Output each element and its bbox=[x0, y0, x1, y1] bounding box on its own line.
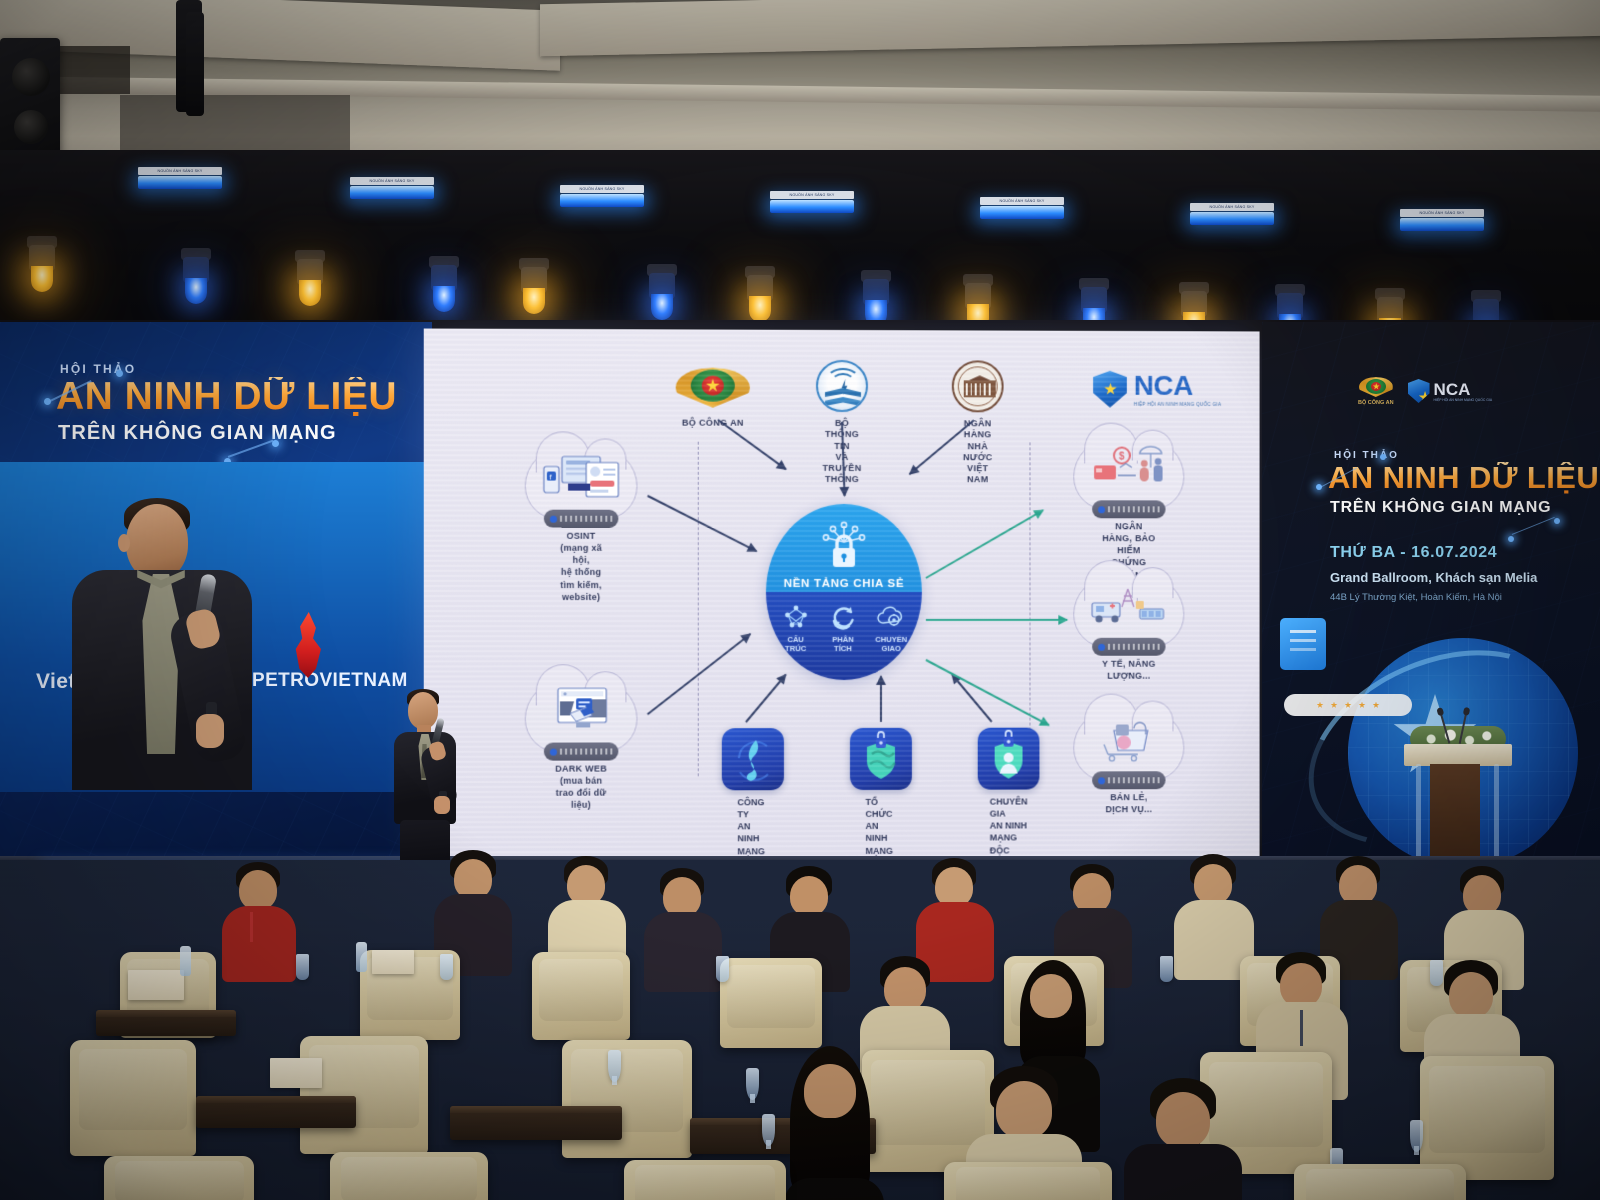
projection-screen: NCA HIỆP HỘI AN NINH MẠNG QUỐC GIA BỘ CÔ… bbox=[424, 329, 1260, 860]
stage-spotlight-warm bbox=[740, 266, 780, 326]
capability-label: PHÂN TÍCH bbox=[832, 635, 854, 653]
retail-illustration bbox=[1088, 714, 1171, 762]
truss-black-curtain bbox=[0, 150, 1600, 340]
arrow-bca-to-hub bbox=[718, 420, 786, 470]
arrow-expert-to-hub bbox=[952, 674, 992, 721]
led-bar-light: NGUỒN ÁNH SÁNG SKY bbox=[1400, 218, 1484, 231]
authority-bo-cong-an: BỘ CÔNG AN bbox=[676, 361, 750, 409]
fixture-tag: NGUỒN ÁNH SÁNG SKY bbox=[980, 197, 1064, 205]
divider-dashed-left bbox=[698, 442, 699, 777]
water-bottle bbox=[356, 942, 367, 972]
banner-logo-bca: BỘ CÔNG AN bbox=[1358, 376, 1394, 406]
health-energy-illustration bbox=[1088, 581, 1171, 629]
osint-illustration: f bbox=[540, 452, 625, 500]
fixture-tag: NGUỒN ÁNH SÁNG SKY bbox=[1190, 203, 1274, 211]
nca-wordmark: NCA bbox=[1134, 372, 1221, 400]
banking-insurance-cloud-icon: $ bbox=[1073, 438, 1184, 510]
dark-web-cloud-icon bbox=[525, 680, 638, 752]
water-glass bbox=[716, 956, 729, 982]
chair bbox=[104, 1156, 254, 1200]
decor-node-dot bbox=[116, 370, 123, 377]
stage-spotlight-warm bbox=[290, 250, 330, 310]
server-bar-icon bbox=[544, 742, 619, 760]
left-led-banner: HỘI THẢO AN NINH DỮ LIỆU TRÊN KHÔNG GIAN… bbox=[0, 322, 432, 862]
authority-label: BỘ CÔNG AN bbox=[682, 418, 744, 429]
arrow-darkweb-to-hub bbox=[648, 634, 751, 714]
name-card bbox=[372, 950, 414, 974]
chair bbox=[720, 958, 822, 1048]
authority-ngan-hang-nha-nuoc: NGÂN HÀNG NHÀ NƯỚC VIỆT NAM bbox=[952, 360, 1004, 412]
speaker-video-feed: VietinBank PETROVIETNAM bbox=[0, 462, 432, 862]
arrow-company-to-hub bbox=[746, 675, 786, 723]
led-bar-light: NGUỒN ÁNH SÁNG SKY bbox=[350, 186, 434, 199]
source-label: DARK WEB (mua bán trao đổi dữ liệu) bbox=[553, 763, 609, 812]
event-venue: Grand Ballroom, Khách sạn Melia bbox=[1330, 570, 1537, 585]
retail-services-cloud-icon bbox=[1073, 709, 1184, 781]
speaker-head bbox=[126, 504, 188, 580]
banner-logo-nca: NCA HIỆP HỘI AN NINH MẠNG QUỐC GIA bbox=[1408, 379, 1493, 403]
consumer-label: BÁN LẺ, DỊCH VỤ... bbox=[1101, 791, 1157, 815]
wine-glass bbox=[762, 1114, 775, 1146]
lock-network-icon bbox=[813, 520, 875, 579]
chair bbox=[624, 1160, 786, 1200]
water-glass bbox=[1160, 956, 1173, 982]
contributor-intl-org: TỔ CHỨC AN NINH MẠNG QUỐC TẾ bbox=[850, 728, 912, 790]
document-icon bbox=[1280, 618, 1326, 670]
vietnam-map-shield-icon bbox=[722, 728, 784, 790]
arrow-osint-to-hub bbox=[648, 496, 757, 552]
divider-dashed-right bbox=[1029, 442, 1030, 775]
stage-spotlight-blue bbox=[424, 256, 464, 316]
bo-thong-tin-truyen-thong-logo-icon bbox=[816, 360, 868, 412]
server-bar-icon bbox=[1092, 771, 1165, 789]
structure-nodes-icon bbox=[781, 602, 811, 632]
star-rating-badge bbox=[1284, 694, 1412, 716]
transfer-cloud-icon bbox=[875, 602, 907, 632]
authority-label: NGÂN HÀNG NHÀ NƯỚC VIỆT NAM bbox=[963, 418, 992, 485]
capability-label: CẤU TRÚC bbox=[785, 635, 806, 654]
stage-spotlight-warm bbox=[514, 258, 554, 318]
central-sharing-platform: NỀN TẢNG CHIA SẺ bbox=[766, 504, 922, 680]
led-bar-light: NGUỒN ÁNH SÁNG SKY bbox=[1190, 212, 1274, 225]
server-bar-icon bbox=[544, 510, 619, 528]
banner-logo-caption: BỘ CÔNG AN bbox=[1358, 400, 1394, 406]
water-glass bbox=[296, 954, 309, 980]
rigging-hoist bbox=[186, 12, 204, 116]
nca-shield-icon bbox=[1408, 379, 1430, 403]
capability-analysis: PHÂN TÍCH bbox=[828, 602, 858, 654]
stage-spotlight-blue bbox=[176, 248, 216, 308]
chair bbox=[944, 1162, 1112, 1200]
expert-shield-lock-icon bbox=[978, 728, 1040, 790]
capability-transfer: CHUYỂN GIAO bbox=[875, 602, 907, 654]
server-bar-icon bbox=[1092, 638, 1165, 656]
speaker-ear bbox=[118, 534, 130, 552]
decor-node-dot bbox=[1380, 454, 1386, 460]
banner-logo-row: BỘ CÔNG AN NCA HIỆP HỘI AN NINH MẠNG QUỐ… bbox=[1358, 376, 1492, 406]
podium-leg bbox=[1494, 764, 1499, 868]
contributor-label: TỔ CHỨC AN NINH MẠNG QUỐC TẾ bbox=[865, 796, 896, 860]
chair bbox=[1420, 1056, 1554, 1180]
conference-hall-photo: NGUỒN ÁNH SÁNG SKY NGUỒN ÁNH SÁNG SKY NG… bbox=[0, 0, 1600, 1200]
event-address: 44B Lý Thường Kiệt, Hoàn Kiếm, Hà Nội bbox=[1330, 592, 1502, 603]
table bbox=[196, 1096, 356, 1128]
source-label: OSINT (mạng xã hội, hệ thống tìm kiếm, w… bbox=[553, 530, 609, 603]
stage-spotlight-blue bbox=[642, 264, 682, 324]
nca-logo: NCA HIỆP HỘI AN NINH MẠNG QUỐC GIA bbox=[1093, 371, 1221, 408]
wine-glass bbox=[1410, 1120, 1423, 1152]
ngan-hang-nha-nuoc-logo-icon bbox=[952, 360, 1004, 412]
stage-spotlight-warm bbox=[22, 236, 62, 296]
arrow-hub-to-banking bbox=[926, 510, 1043, 578]
event-title: AN NINH DỮ LIỆU bbox=[56, 377, 397, 417]
nca-wordmark: NCA bbox=[1434, 381, 1493, 398]
chair bbox=[562, 1040, 692, 1158]
svg-text:$: $ bbox=[1119, 452, 1125, 463]
chair bbox=[330, 1152, 488, 1200]
feed-logo-petrovietnam: PETROVIETNAM bbox=[252, 670, 408, 692]
capability-label: CHUYỂN GIAO bbox=[875, 635, 907, 653]
event-subtitle: TRÊN KHÔNG GIAN MẠNG bbox=[1330, 499, 1551, 517]
table bbox=[96, 1010, 236, 1036]
dark-web-illustration bbox=[540, 685, 625, 733]
wine-glass bbox=[746, 1068, 759, 1100]
presenter-hand bbox=[434, 796, 450, 814]
speaking-podium bbox=[1404, 718, 1512, 866]
event-date: THỨ BA - 16.07.2024 bbox=[1330, 544, 1497, 562]
nca-shield-icon bbox=[1093, 371, 1127, 408]
led-bar-light: NGUỒN ÁNH SÁNG SKY bbox=[138, 176, 222, 189]
authority-bo-thong-tin: BỘ THÔNG TIN VÀ TRUYỀN THÔNG bbox=[816, 360, 868, 412]
contributor-independent-expert: CHUYÊN GIA AN NINH MẠNG ĐỘC LẬP bbox=[978, 728, 1040, 790]
name-card bbox=[128, 970, 184, 1000]
globe-shield-lock-icon bbox=[850, 728, 912, 790]
event-eyebrow: HỘI THẢO bbox=[60, 362, 136, 376]
consumer-retail: BÁN LẺ, DỊCH VỤ... bbox=[1073, 709, 1184, 781]
presenter-head bbox=[408, 692, 438, 729]
health-energy-cloud-icon bbox=[1073, 576, 1184, 648]
bo-cong-an-emblem-icon bbox=[676, 361, 750, 409]
water-glass bbox=[1430, 960, 1443, 986]
hub-title: NỀN TẢNG CHIA SẺ bbox=[766, 578, 922, 590]
podium-top bbox=[1404, 744, 1512, 766]
led-bar-light: NGUỒN ÁNH SÁNG SKY bbox=[770, 200, 854, 213]
event-title: AN NINH DỮ LIỆU bbox=[1328, 462, 1599, 494]
fixture-tag: NGUỒN ÁNH SÁNG SKY bbox=[770, 191, 854, 199]
led-bar-light: NGUỒN ÁNH SÁNG SKY bbox=[980, 206, 1064, 219]
chair bbox=[1294, 1164, 1466, 1200]
speaker-hand bbox=[196, 714, 224, 748]
chair bbox=[70, 1040, 196, 1156]
server-bar-icon bbox=[1092, 500, 1165, 518]
water-glass bbox=[440, 954, 453, 980]
presenter-on-stage bbox=[386, 692, 466, 872]
consumer-label: Y TẾ, NĂNG LƯỢNG... bbox=[1101, 658, 1157, 682]
nca-tagline: HIỆP HỘI AN NINH MẠNG QUỐC GIA bbox=[1134, 402, 1221, 407]
chair bbox=[532, 952, 630, 1040]
contributor-label: CÔNG TY AN NINH MẠNG VIỆT NAM bbox=[737, 796, 768, 859]
consumer-banking: $ NGÂN H bbox=[1073, 438, 1184, 510]
banking-illustration: $ bbox=[1088, 443, 1171, 491]
source-dark-web: DARK WEB (mua bán trao đổi dữ liệu) bbox=[525, 680, 638, 752]
led-bar-light: NGUỒN ÁNH SÁNG SKY bbox=[560, 194, 644, 207]
decor-node-dot bbox=[1554, 518, 1560, 524]
fixture-tag: NGUỒN ÁNH SÁNG SKY bbox=[560, 185, 644, 193]
ceiling bbox=[0, 0, 1600, 175]
table bbox=[450, 1106, 622, 1140]
consumer-health-energy: Y TẾ, NĂNG LƯỢNG... bbox=[1073, 576, 1184, 648]
contributor-label: CHUYÊN GIA AN NINH MẠNG ĐỘC LẬP bbox=[990, 796, 1028, 860]
name-card bbox=[270, 1058, 322, 1088]
fixture-tag: NGUỒN ÁNH SÁNG SKY bbox=[138, 167, 222, 175]
osint-cloud-icon: f bbox=[525, 447, 638, 519]
fixture-tag: NGUỒN ÁNH SÁNG SKY bbox=[350, 177, 434, 185]
ceiling-beam bbox=[540, 0, 1600, 56]
nca-tagline: HIỆP HỘI AN NINH MẠNG QUỐC GIA bbox=[1434, 398, 1493, 402]
decor-node-dot bbox=[1508, 536, 1514, 542]
podium-column bbox=[1430, 764, 1480, 866]
source-osint: f OSINT (mạng xã hội, hệ thống tìm kiếm,… bbox=[525, 447, 638, 519]
water-bottle bbox=[180, 946, 191, 976]
presentation-slide: NCA HIỆP HỘI AN NINH MẠNG QUỐC GIA BỘ CÔ… bbox=[424, 329, 1260, 860]
podium-leg bbox=[1416, 764, 1421, 868]
hub-capabilities: CẤU TRÚC PHÂN TÍCH bbox=[766, 602, 922, 654]
contributor-vn-company: CÔNG TY AN NINH MẠNG VIỆT NAM bbox=[722, 728, 784, 790]
chair bbox=[300, 1036, 428, 1154]
audience-area bbox=[0, 860, 1600, 1200]
capability-structure: CẤU TRÚC bbox=[781, 602, 811, 654]
fixture-tag: NGUỒN ÁNH SÁNG SKY bbox=[1400, 209, 1484, 217]
analysis-refresh-icon bbox=[828, 602, 858, 632]
event-subtitle: TRÊN KHÔNG GIAN MẠNG bbox=[58, 422, 337, 445]
wine-glass bbox=[608, 1050, 621, 1082]
